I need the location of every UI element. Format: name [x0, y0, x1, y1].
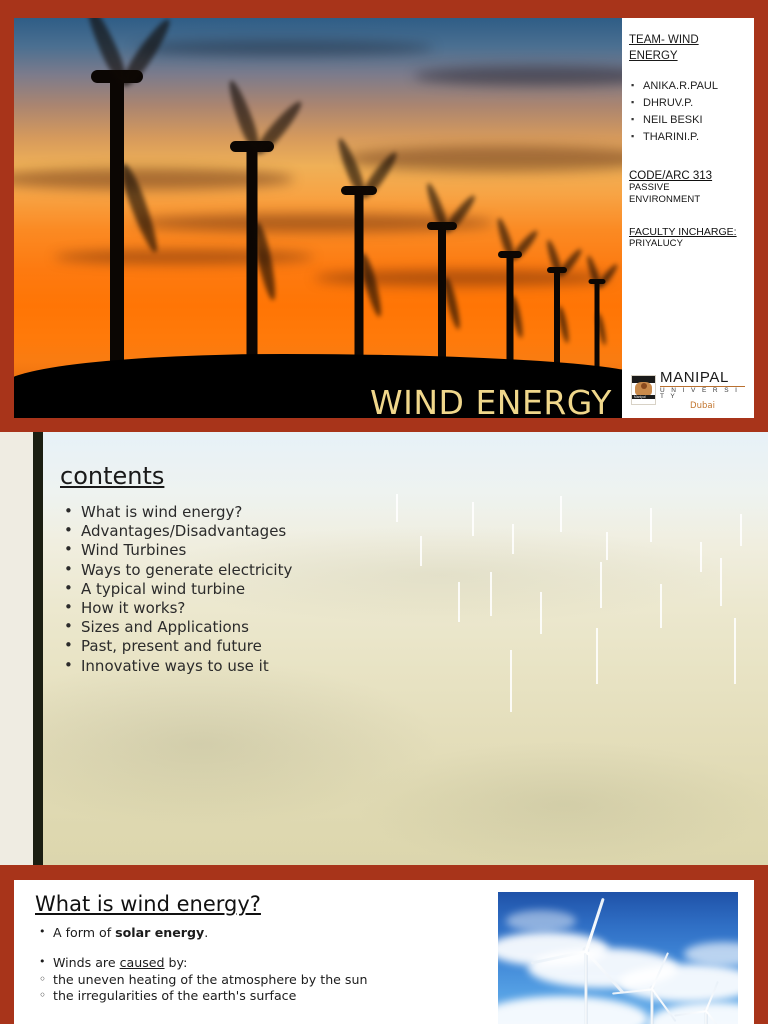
list-item: ANIKA.R.PAUL [629, 78, 747, 95]
bullet-text-suffix: by: [165, 955, 188, 970]
list-item: What is wind energy? [60, 503, 292, 522]
logo-wordmark: MANIPAL U N I V E R S I T Y Dubai [660, 370, 745, 411]
turbine-silhouette [246, 146, 257, 376]
wind-turbine [704, 1010, 707, 1024]
slide-1-title-text: WIND ENERGY [370, 383, 612, 418]
list-item: the irregularities of the earth's surfac… [35, 988, 475, 1004]
faculty-block: FACULTY INCHARGE: PRIYALUCY [629, 226, 747, 250]
slide-1-title: WIND ENERGY TEAM- WIND ENERGY ANIKA.R.PA… [14, 18, 754, 418]
logo-name: MANIPAL [660, 370, 745, 385]
slide-3-turbine-photo [498, 892, 738, 1024]
list-spacer [35, 941, 475, 955]
faculty-name: PRIYALUCY [629, 238, 747, 250]
wind-turbine [650, 988, 653, 1024]
wind-turbine [584, 950, 588, 1024]
list-item: the uneven heating of the atmosphere by … [35, 972, 475, 988]
presentation-page: WIND ENERGY TEAM- WIND ENERGY ANIKA.R.PA… [0, 0, 768, 1024]
slide-1-info-panel: TEAM- WIND ENERGY ANIKA.R.PAUL DHRUV.P. … [622, 18, 754, 418]
list-item: DHRUV.P. [629, 95, 747, 112]
list-item: Advantages/Disadvantages [60, 522, 292, 541]
slide-3-heading: What is wind energy? [35, 892, 261, 916]
logo-subtitle: U N I V E R S I T Y [660, 388, 745, 401]
contents-list: What is wind energy? Advantages/Disadvan… [60, 503, 292, 676]
logo-mark-icon [631, 375, 656, 405]
turbine-silhouette [110, 76, 124, 376]
team-heading-line1: TEAM- WIND [629, 34, 699, 46]
team-heading-line2: ENERGY [629, 50, 678, 62]
list-item: How it works? [60, 599, 292, 618]
list-item: Ways to generate electricity [60, 561, 292, 580]
list-item: A form of solar energy. [35, 925, 475, 941]
course-code-block: CODE/ARC 313 PASSIVE ENVIRONMENT [629, 170, 747, 206]
list-item: Innovative ways to use it [60, 657, 292, 676]
bullet-text-bold: solar energy [115, 925, 204, 940]
turbine-silhouette [438, 226, 446, 376]
bullet-text-prefix: Winds are [53, 955, 120, 970]
team-heading: TEAM- WIND ENERGY [629, 32, 747, 64]
list-item: Wind Turbines [60, 541, 292, 560]
list-item: Winds are caused by: [35, 955, 475, 971]
slide-3-what-is-wind-energy: What is wind energy? A form of solar ene… [14, 880, 754, 1024]
list-item: Past, present and future [60, 637, 292, 656]
slide-2-contents: contents What is wind energy? Advantages… [0, 432, 768, 865]
turbine-silhouette [506, 254, 513, 376]
list-item: Sizes and Applications [60, 618, 292, 637]
turbine-silhouette [594, 282, 599, 376]
manipal-university-logo: MANIPAL U N I V E R S I T Y Dubai [628, 368, 748, 412]
slide-2-heading: contents [60, 462, 164, 490]
slide-3-bullets: A form of solar energy. Winds are caused… [35, 925, 475, 1005]
course-code: CODE/ARC 313 [629, 170, 747, 182]
course-line-1: PASSIVE [629, 182, 747, 194]
sunset-photo [14, 18, 622, 418]
list-item: NEIL BESKI [629, 112, 747, 129]
list-item: A typical wind turbine [60, 580, 292, 599]
list-item: THARINI.P. [629, 129, 747, 146]
logo-city: Dubai [660, 402, 745, 411]
turbine-silhouette [354, 190, 363, 376]
turbine-silhouette [554, 270, 560, 376]
team-member-list: ANIKA.R.PAUL DHRUV.P. NEIL BESKI THARINI… [629, 78, 747, 146]
bullet-text-prefix: A form of [53, 925, 115, 940]
bullet-text-suffix: . [204, 925, 208, 940]
faculty-heading: FACULTY INCHARGE: [629, 226, 747, 238]
bullet-text-underline: caused [120, 955, 165, 970]
course-line-2: ENVIRONMENT [629, 194, 747, 206]
